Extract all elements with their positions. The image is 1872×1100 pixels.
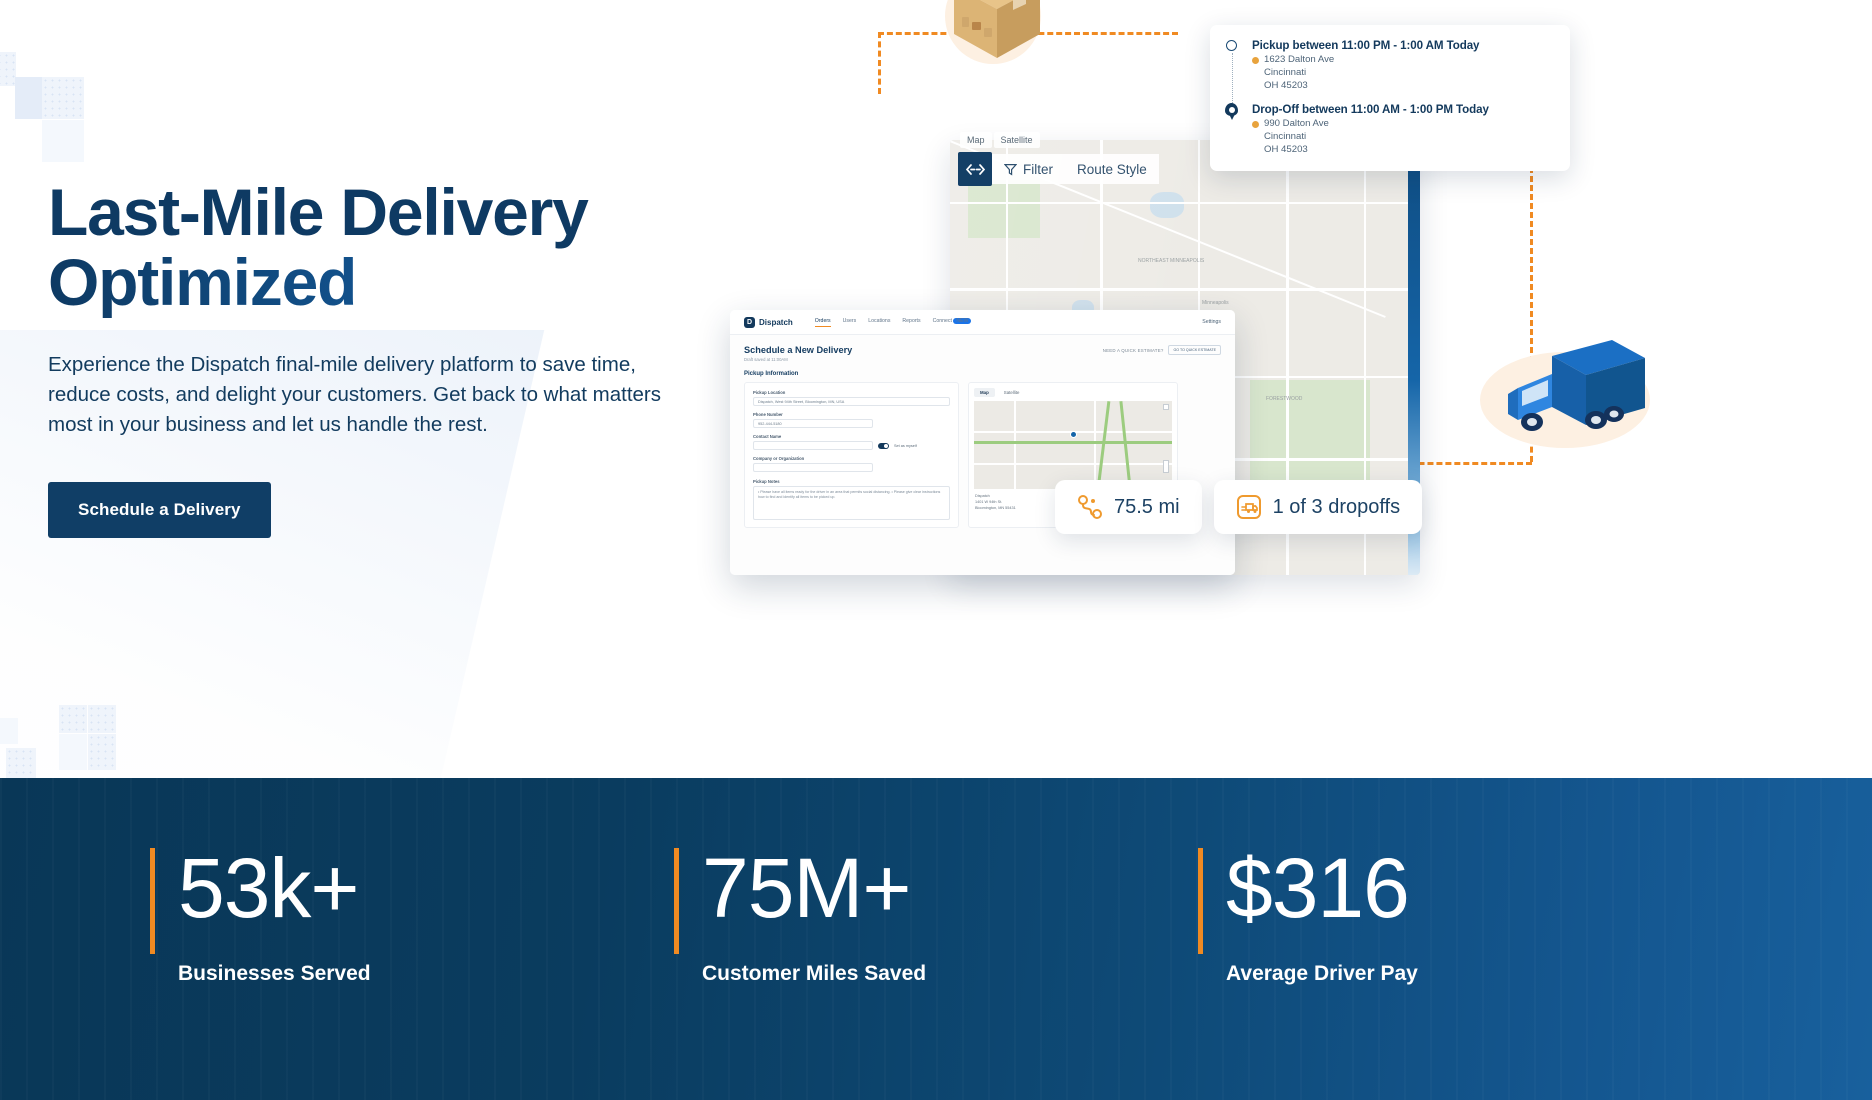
- filter-button[interactable]: Filter: [992, 154, 1065, 184]
- route-icon: [1077, 494, 1103, 520]
- set-as-myself-toggle[interactable]: [878, 443, 889, 449]
- pickup-notes-textarea[interactable]: • Please have all items ready for the dr…: [753, 486, 950, 520]
- pickup-circle-icon: [1226, 40, 1237, 51]
- nav-item-users[interactable]: Users: [843, 318, 857, 327]
- pickup-location-input[interactable]: Dispatch, West 94th Street, Bloomington,…: [753, 397, 950, 406]
- itinerary-leg-pickup: Pickup between 11:00 PM - 1:00 AM Today …: [1224, 39, 1554, 91]
- pickup-location-pin: [1070, 431, 1077, 438]
- pickup-address: 1623 Dalton Ave: [1252, 54, 1554, 65]
- set-as-myself-label: Set as myself: [894, 444, 917, 448]
- dashboard-nav-items[interactable]: Orders Users Locations Reports Connect N…: [815, 318, 972, 327]
- address-pin-icon: [1252, 121, 1259, 128]
- page-title: Last-Mile Delivery Optimized: [48, 178, 848, 318]
- contact-name-input[interactable]: [753, 441, 873, 450]
- decorative-square: [0, 718, 18, 744]
- map-basemap-tabs[interactable]: Map Satellite: [960, 132, 1040, 148]
- dropoff-pin-tail: [1229, 114, 1235, 120]
- nav-item-connect-label: Connect: [933, 318, 952, 324]
- pickup-map-tabs[interactable]: Map Satellite: [969, 383, 1177, 397]
- nav-item-locations[interactable]: Locations: [868, 318, 890, 327]
- leg-connector: [1232, 53, 1233, 109]
- stat-businesses-served: 53k+ Businesses Served: [150, 778, 674, 1100]
- headline-line-1: Last-Mile Delivery: [48, 175, 588, 249]
- decorative-square: [59, 705, 87, 733]
- brand-name: Dispatch: [759, 318, 793, 327]
- route-summary-pills: 75.5 mi 1 of 3 dropoffs: [1055, 480, 1422, 534]
- pickup-map-tab[interactable]: Map: [974, 388, 995, 397]
- dropoff-truck-icon: [1236, 494, 1262, 520]
- pickup-minimap[interactable]: Keyboard shortcuts Map data ©2021 Terms …: [974, 401, 1172, 489]
- left-right-arrows-icon[interactable]: [958, 152, 992, 186]
- dropoff-window-label: Drop-Off between 11:00 AM - 1:00 PM Toda…: [1252, 103, 1554, 116]
- map-toolbar[interactable]: Filter Route Style: [958, 152, 1159, 186]
- dispatch-logo: D Dispatch: [744, 317, 793, 328]
- filter-icon: [1004, 163, 1017, 176]
- dispatch-mark-icon: D: [744, 317, 755, 328]
- connect-new-badge: NEW: [953, 318, 971, 324]
- map-tab[interactable]: Map: [960, 132, 992, 148]
- quick-estimate-area[interactable]: NEED A QUICK ESTIMATE? GO TO QUICK ESTIM…: [1103, 345, 1221, 355]
- pickup-region: OH 45203: [1252, 80, 1554, 91]
- route-style-label: Route Style: [1077, 162, 1147, 177]
- route-style-button[interactable]: Route Style: [1065, 154, 1159, 184]
- pickup-notes-label: Pickup Notes: [753, 479, 950, 484]
- hero-copy: Last-Mile Delivery Optimized Experience …: [48, 178, 848, 538]
- nav-item-orders[interactable]: Orders: [815, 318, 831, 327]
- minimap-fullscreen-button[interactable]: [1163, 404, 1169, 410]
- stats-band: 53k+ Businesses Served 75M+ Customer Mil…: [0, 778, 1872, 1100]
- stat-label: Businesses Served: [178, 962, 674, 986]
- pickup-map-address: Dispatch 1401 W 94th St. Bloomington, MN…: [975, 494, 1016, 512]
- company-input[interactable]: [753, 463, 873, 472]
- package-box-icon: [950, 0, 1044, 64]
- hero-subtext: Experience the Dispatch final-mile deliv…: [48, 350, 688, 440]
- satellite-tab[interactable]: Satellite: [994, 132, 1040, 148]
- settings-menu[interactable]: Settings: [1202, 319, 1221, 325]
- address-pin-icon: [1252, 57, 1259, 64]
- form-title: Schedule a New Delivery: [744, 345, 852, 355]
- pickup-satellite-tab[interactable]: Satellite: [998, 388, 1026, 397]
- stat-value: 53k+: [150, 846, 674, 930]
- contact-name-label: Contact Name: [753, 434, 950, 439]
- stat-average-driver-pay: $316 Average Driver Pay: [1198, 778, 1722, 1100]
- decorative-square: [88, 705, 116, 733]
- decorative-square: [42, 77, 84, 119]
- delivery-truck-icon: [1500, 328, 1650, 446]
- pickup-location-label: Pickup Location: [753, 390, 950, 395]
- dashboard-body: Schedule a New Delivery Draft saved at 1…: [730, 335, 1235, 575]
- dropoffs-pill[interactable]: 1 of 3 dropoffs: [1214, 480, 1423, 534]
- decorative-square: [6, 748, 36, 778]
- stat-value: $316: [1198, 846, 1722, 930]
- dropoff-city: Cincinnati: [1252, 131, 1554, 142]
- stats-grid: 53k+ Businesses Served 75M+ Customer Mil…: [0, 778, 1872, 1100]
- nav-item-connect[interactable]: Connect NEW: [933, 318, 972, 327]
- phone-number-label: Phone Number: [753, 412, 950, 417]
- decorative-square: [88, 734, 116, 770]
- decorative-square: [0, 52, 16, 86]
- decorative-square: [42, 120, 84, 162]
- quick-estimate-button[interactable]: GO TO QUICK ESTIMATE: [1168, 345, 1221, 355]
- contact-name-row: Set as myself: [753, 441, 950, 450]
- minimap-zoom-controls[interactable]: [1163, 460, 1169, 473]
- distance-pill[interactable]: 75.5 mi: [1055, 480, 1202, 534]
- pickup-street: 1623 Dalton Ave: [1264, 54, 1334, 65]
- hero-section: Last-Mile Delivery Optimized Experience …: [0, 0, 1872, 778]
- dropoff-address: 990 Dalton Ave: [1252, 118, 1554, 129]
- section-title-pickup-information: Pickup Information: [744, 371, 1221, 377]
- company-label: Company or Organization: [753, 456, 950, 461]
- dropoff-region: OH 45203: [1252, 144, 1554, 155]
- dropoffs-label: 1 of 3 dropoffs: [1273, 496, 1401, 519]
- location-city: Bloomington, MN 55431: [975, 506, 1016, 512]
- filter-label: Filter: [1023, 162, 1053, 177]
- itinerary-card: Pickup between 11:00 PM - 1:00 AM Today …: [1210, 25, 1570, 171]
- pickup-city: Cincinnati: [1252, 67, 1554, 78]
- pickup-fields-card: Pickup Location Dispatch, West 94th Stre…: [744, 382, 959, 528]
- stat-customer-miles-saved: 75M+ Customer Miles Saved: [674, 778, 1198, 1100]
- dashboard-preview-card[interactable]: D Dispatch Orders Users Locations Report…: [730, 310, 1235, 575]
- dropoff-street: 990 Dalton Ave: [1264, 118, 1329, 129]
- schedule-a-delivery-button[interactable]: Schedule a Delivery: [48, 482, 271, 538]
- dashboard-navbar: D Dispatch Orders Users Locations Report…: [730, 310, 1235, 335]
- phone-number-input[interactable]: 952-444-5180: [753, 419, 873, 428]
- headline-line-2: Optimized: [48, 248, 848, 318]
- quick-estimate-prompt: NEED A QUICK ESTIMATE?: [1103, 348, 1164, 353]
- pickup-window-label: Pickup between 11:00 PM - 1:00 AM Today: [1252, 39, 1554, 52]
- stat-value: 75M+: [674, 846, 1198, 930]
- itinerary-leg-dropoff: Drop-Off between 11:00 AM - 1:00 PM Toda…: [1224, 103, 1554, 155]
- stat-label: Customer Miles Saved: [702, 962, 1198, 986]
- draft-status: Draft saved at 11:00AM: [744, 357, 852, 362]
- decorative-square: [59, 734, 87, 770]
- hero-illustration: NORTHEAST MINNEAPOLIS Minneapolis WEST C…: [840, 0, 1872, 770]
- dashboard-header-row: Schedule a New Delivery Draft saved at 1…: [744, 345, 1221, 362]
- stat-label: Average Driver Pay: [1226, 962, 1722, 986]
- nav-item-reports[interactable]: Reports: [902, 318, 920, 327]
- left-right-arrows-glyph: [966, 164, 985, 175]
- route-dash-segment: [878, 32, 881, 94]
- distance-label: 75.5 mi: [1114, 496, 1180, 519]
